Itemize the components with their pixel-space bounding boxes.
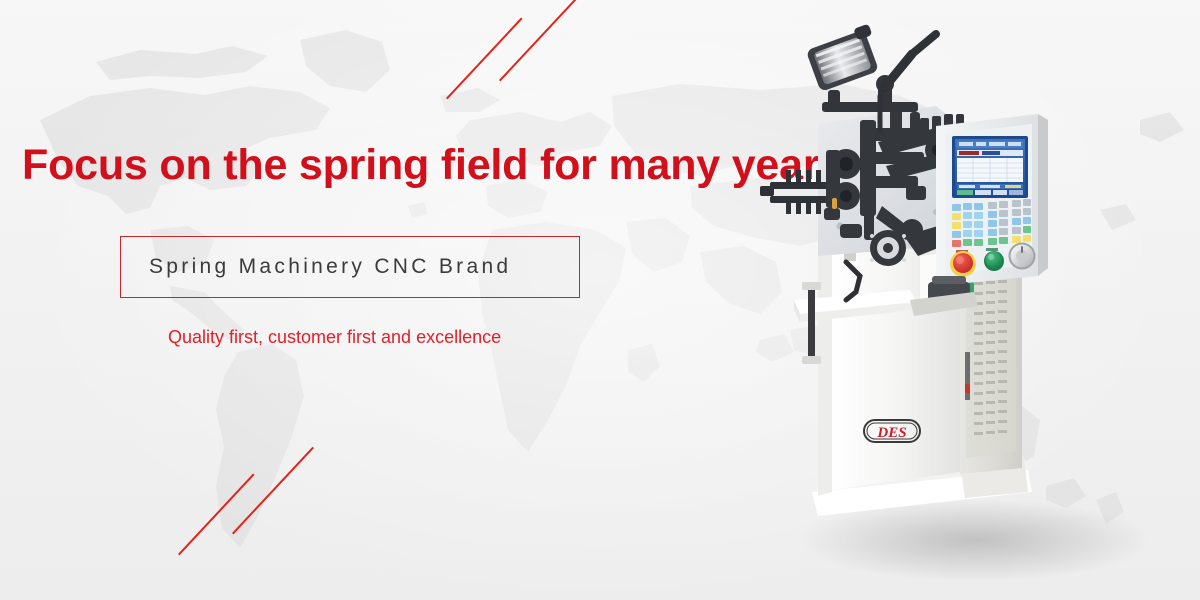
work-lamp	[804, 24, 884, 92]
headline: Focus on the spring field for many years	[22, 144, 843, 187]
subtitle-box: Spring Machinery CNC Brand	[120, 236, 580, 298]
tagline: Quality first, customer first and excell…	[168, 327, 501, 348]
keypad	[952, 199, 1031, 247]
cnc-spring-coiling-machine: DES	[760, 0, 1200, 600]
tray-post	[808, 286, 815, 362]
subtitle-text: Spring Machinery CNC Brand	[121, 255, 511, 279]
svg-text:DES: DES	[876, 425, 906, 441]
emergency-stop-button	[950, 251, 976, 277]
hero-banner: Focus on the spring field for many years…	[0, 0, 1200, 600]
rotary-knob	[1009, 243, 1036, 270]
start-button	[984, 251, 1004, 271]
cnc-screen	[952, 136, 1028, 198]
control-panel	[936, 114, 1048, 286]
